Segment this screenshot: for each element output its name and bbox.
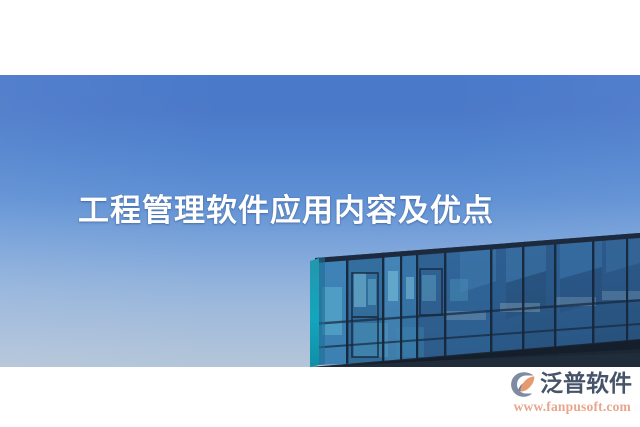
banner-page: 工程管理软件应用内容及优点 泛普软件 www.fanpusoft.com — [0, 0, 640, 427]
page-title: 工程管理软件应用内容及优点 — [78, 193, 548, 230]
brand-website-url: www.fanpusoft.com — [514, 400, 631, 415]
building-svg — [310, 227, 640, 367]
brand-company-name: 泛普软件 — [540, 373, 632, 396]
brand-logo-row: 泛普软件 — [510, 370, 632, 399]
brand-logo[interactable]: 泛普软件 www.fanpusoft.com — [498, 370, 632, 415]
hero-image: 工程管理软件应用内容及优点 — [0, 75, 640, 367]
glass-building-illustration — [310, 227, 640, 367]
fanpu-swoosh-icon — [510, 371, 538, 398]
top-white-band — [0, 0, 640, 75]
building-left-edge — [310, 258, 319, 367]
fanpu-swoosh-svg — [510, 371, 538, 398]
